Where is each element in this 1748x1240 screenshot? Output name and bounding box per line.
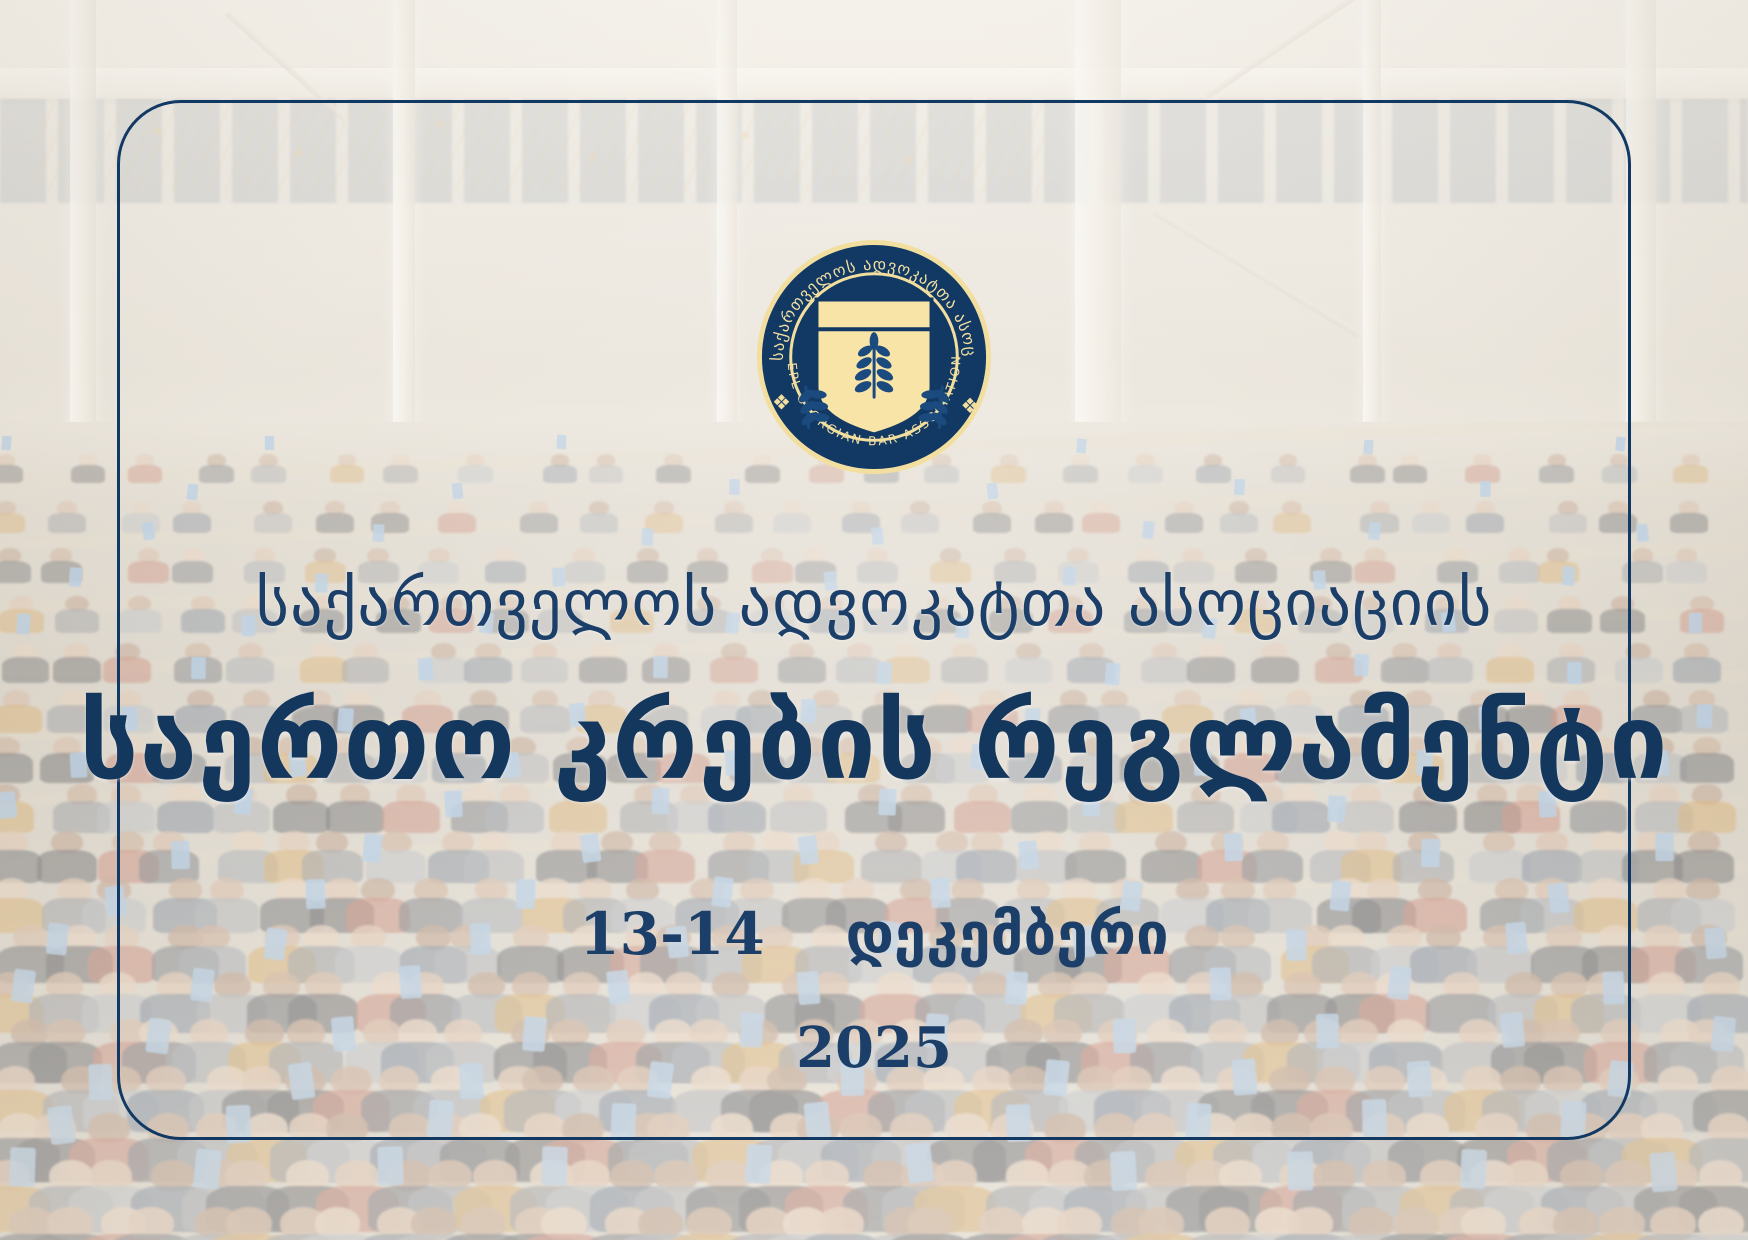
organisation-name: საქართველოს ადვოკატთა ასოციაციის [0,572,1748,636]
event-date: 13-14 დეკემბერი [0,905,1748,963]
event-year: 2025 [0,1020,1748,1076]
poster-text-block: საქართველოს ადვოკატთა ასოციაციის საერთო … [0,0,1748,1240]
month-label: დეკემბერი [846,900,1169,968]
poster-title: საერთო კრების რეგლამენტი [0,690,1748,794]
date-range: 13-14 [579,900,765,968]
poster: სსიპ საქართველოს ადვოკატთა ასოციაცია LEP… [0,0,1748,1240]
